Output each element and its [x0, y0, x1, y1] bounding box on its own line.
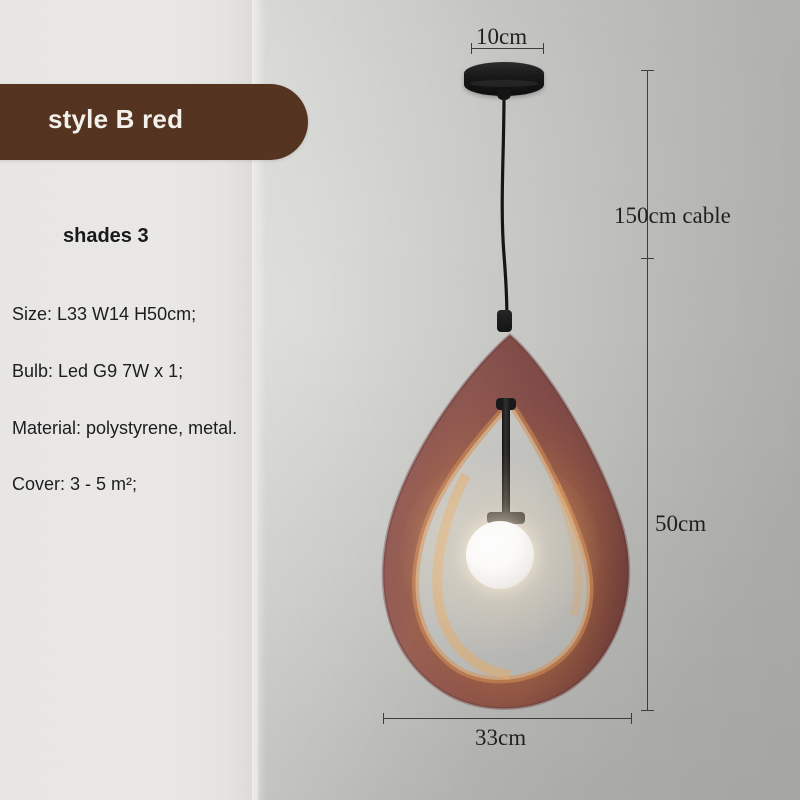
- dim-vertical-tick-top: [641, 70, 654, 71]
- bulb-globe: [466, 521, 534, 589]
- style-badge-label: style B red: [48, 104, 183, 135]
- bulb-stem: [502, 398, 510, 520]
- spec-list: Size: L33 W14 H50cm; Bulb: Led G9 7W x 1…: [12, 305, 332, 532]
- spec-cover: Cover: 3 - 5 m²;: [12, 475, 332, 495]
- dim-vertical-tick-mid: [641, 258, 654, 259]
- spec-size: Size: L33 W14 H50cm;: [12, 305, 332, 325]
- dim-width-line: [383, 718, 632, 719]
- panel-title: shades 3: [63, 225, 149, 248]
- suspension-cable: [470, 95, 540, 330]
- dim-canopy-tick-right: [543, 43, 544, 54]
- dim-width-label: 33cm: [475, 725, 526, 751]
- canopy-seam: [470, 80, 538, 87]
- dim-cable-label: 150cm cable: [614, 203, 731, 229]
- dim-vertical-rule: [647, 70, 648, 710]
- dim-width-tick-left: [383, 713, 384, 724]
- spec-material: Material: polystyrene, metal.: [12, 419, 332, 439]
- dim-width-tick-right: [631, 713, 632, 724]
- dim-canopy-label: 10cm: [476, 24, 527, 50]
- dim-height-label: 50cm: [655, 511, 706, 537]
- product-spec-image: style B red shades 3 Size: L33 W14 H50cm…: [0, 0, 800, 800]
- spec-bulb: Bulb: Led G9 7W x 1;: [12, 362, 332, 382]
- dim-canopy-tick-left: [471, 43, 472, 54]
- dim-vertical-tick-bottom: [641, 710, 654, 711]
